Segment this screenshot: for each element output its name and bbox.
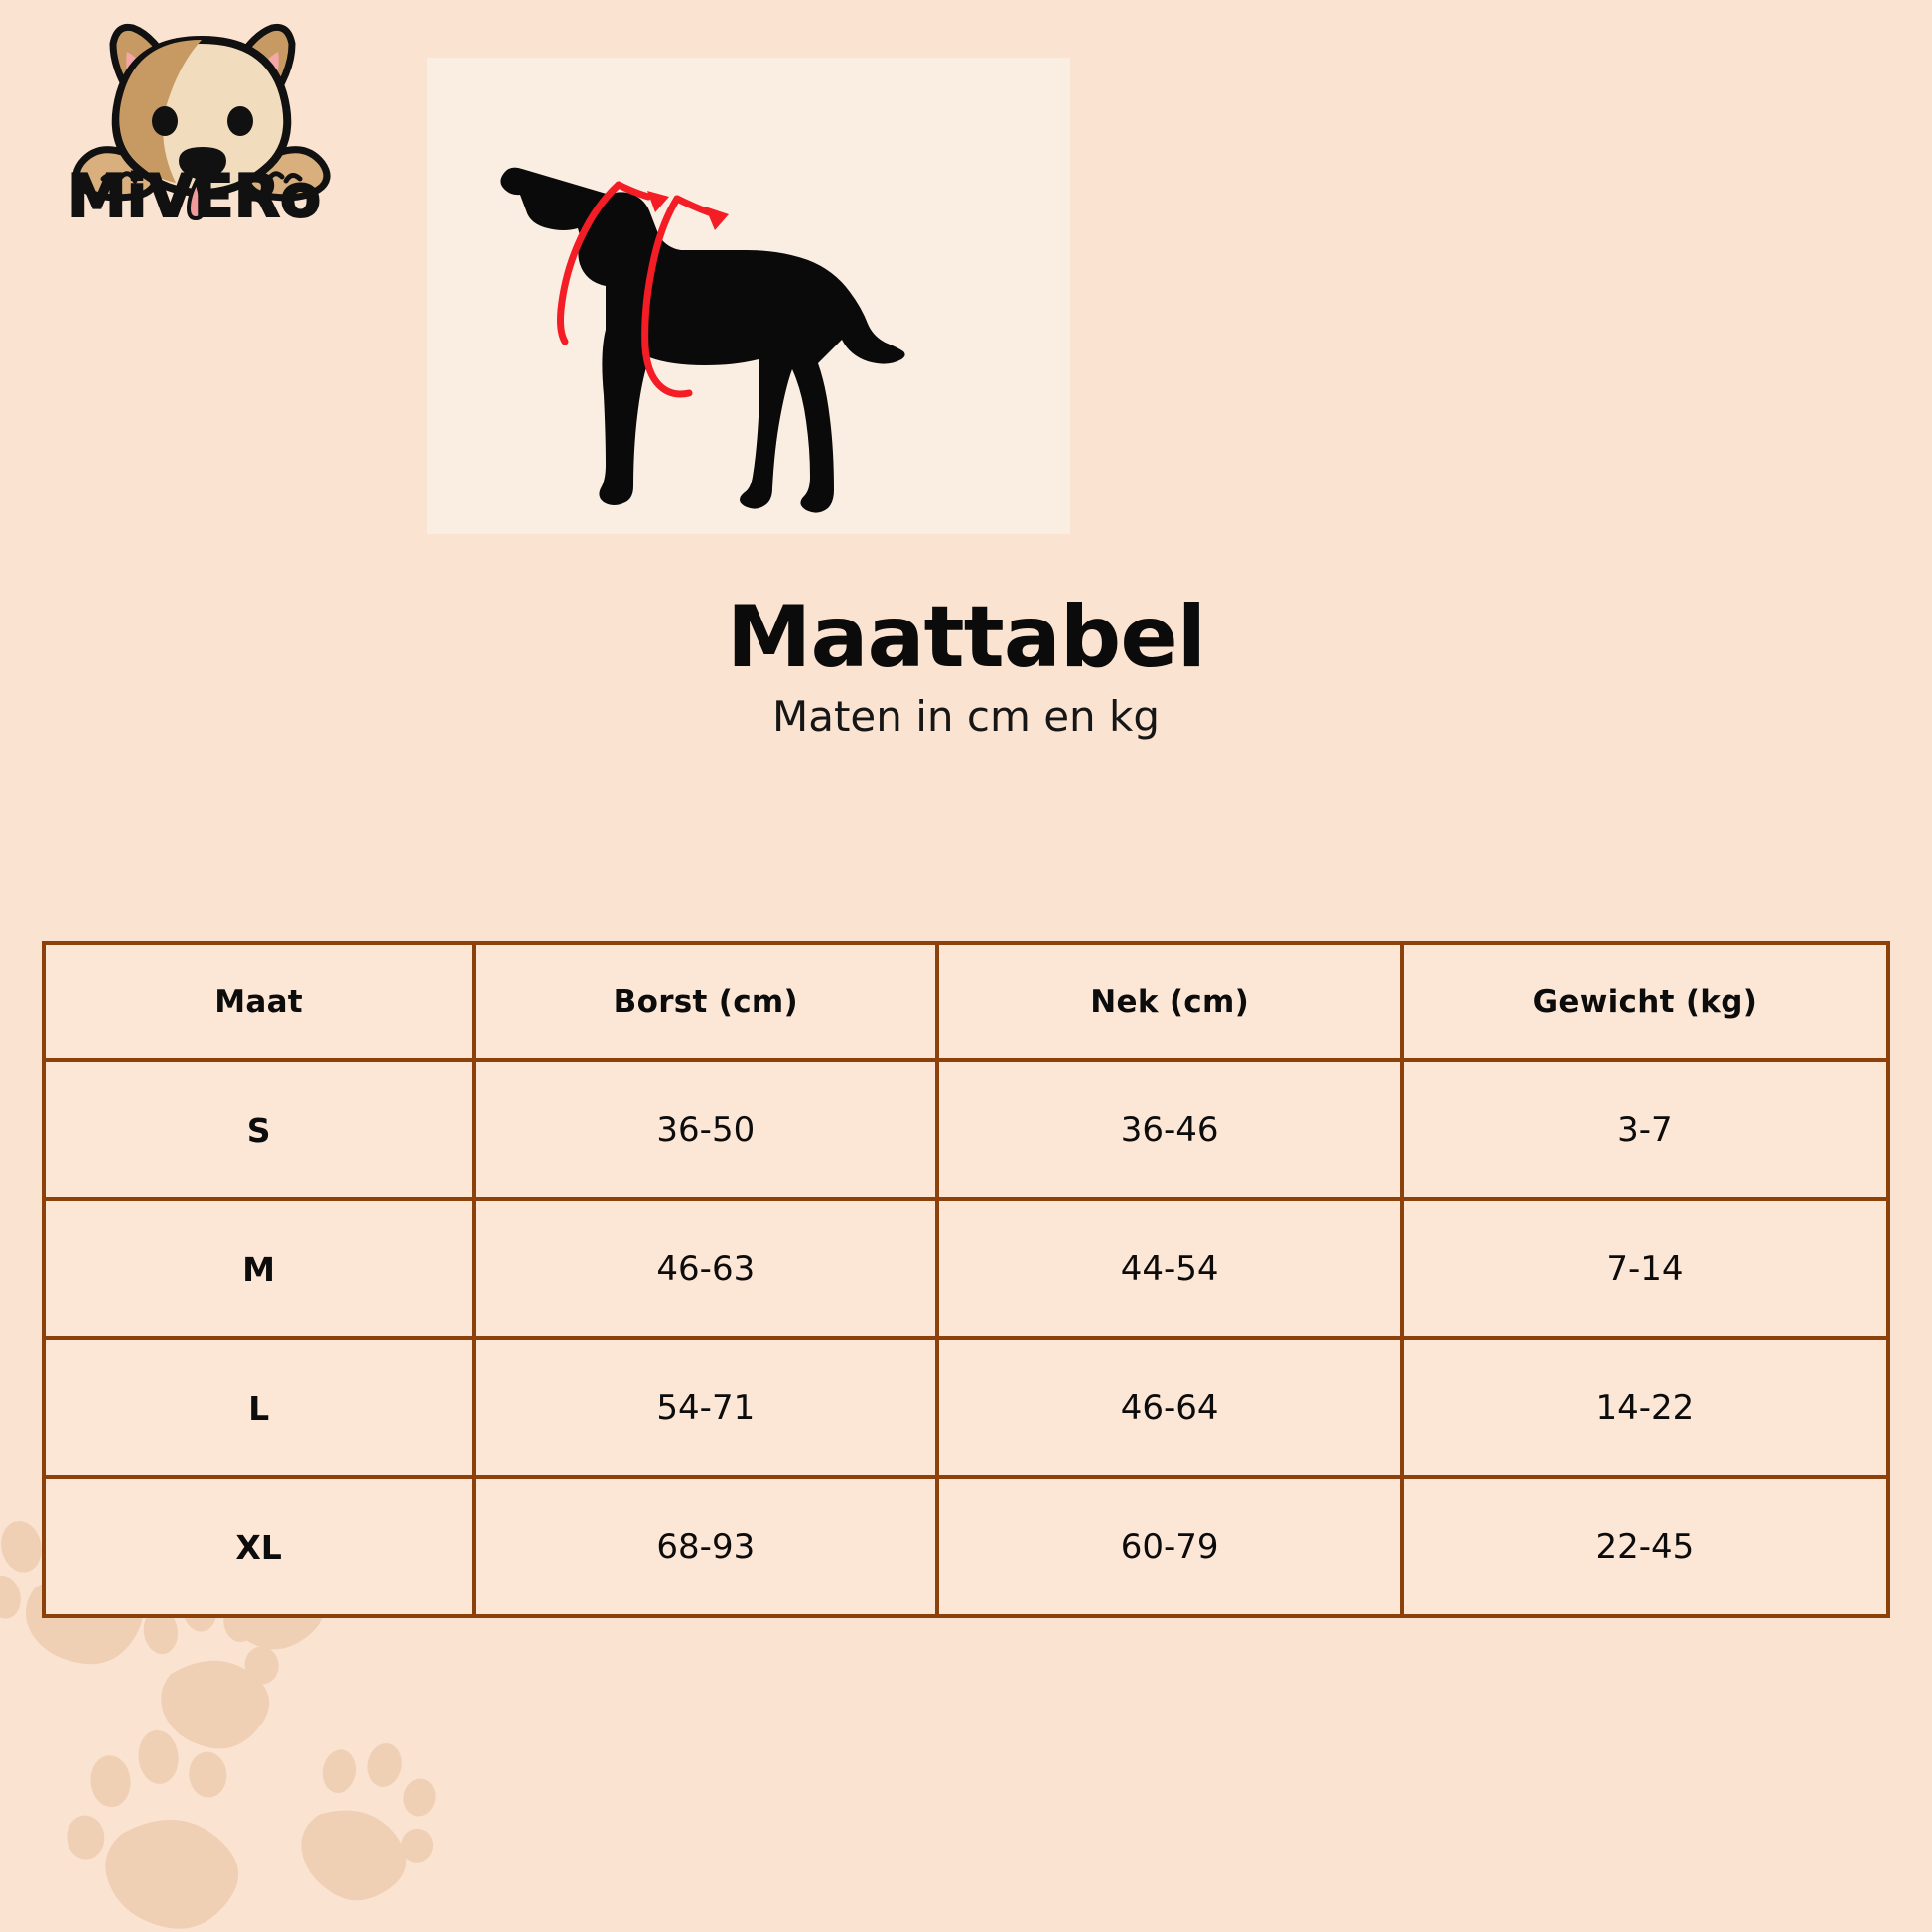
neck-arrow-head	[647, 191, 669, 212]
cell-weight: 14-22	[1402, 1338, 1888, 1477]
cell-chest: 46-63	[474, 1199, 937, 1338]
cell-neck: 44-54	[937, 1199, 1401, 1338]
cell-neck: 36-46	[937, 1060, 1401, 1199]
column-header-nek: Nek (cm)	[937, 943, 1401, 1060]
column-header-gewicht: Gewicht (kg)	[1402, 943, 1888, 1060]
cell-chest: 54-71	[474, 1338, 937, 1477]
table-row: L 54-71 46-64 14-22	[44, 1338, 1888, 1477]
cell-size: L	[44, 1338, 474, 1477]
cell-chest: 68-93	[474, 1477, 937, 1616]
table-header-row: Maat Borst (cm) Nek (cm) Gewicht (kg)	[44, 943, 1888, 1060]
size-table-container: Maat Borst (cm) Nek (cm) Gewicht (kg) S …	[42, 941, 1890, 1618]
cell-weight: 22-45	[1402, 1477, 1888, 1616]
cell-chest: 36-50	[474, 1060, 937, 1199]
size-chart-page: MiVERo Maattabel Maten in cm en kg	[0, 0, 1932, 1932]
size-table: Maat Borst (cm) Nek (cm) Gewicht (kg) S …	[42, 941, 1890, 1618]
cell-size: XL	[44, 1477, 474, 1616]
cell-neck: 60-79	[937, 1477, 1401, 1616]
logo-wordmark: MiVERo	[68, 162, 321, 222]
chest-arrow-head	[705, 207, 729, 230]
dog-measurement-illustration	[427, 58, 1070, 534]
table-row: M 46-63 44-54 7-14	[44, 1199, 1888, 1338]
table-row: XL 68-93 60-79 22-45	[44, 1477, 1888, 1616]
table-row: S 36-50 36-46 3-7	[44, 1060, 1888, 1199]
cell-neck: 46-64	[937, 1338, 1401, 1477]
dog-face-logo: MiVERo	[58, 14, 345, 222]
column-header-borst: Borst (cm)	[474, 943, 937, 1060]
column-header-maat: Maat	[44, 943, 474, 1060]
cell-size: M	[44, 1199, 474, 1338]
cell-weight: 7-14	[1402, 1199, 1888, 1338]
cell-size: S	[44, 1060, 474, 1199]
heading-block: Maattabel Maten in cm en kg	[0, 592, 1932, 740]
page-subtitle: Maten in cm en kg	[0, 694, 1932, 740]
cell-weight: 3-7	[1402, 1060, 1888, 1199]
page-title: Maattabel	[0, 592, 1932, 684]
